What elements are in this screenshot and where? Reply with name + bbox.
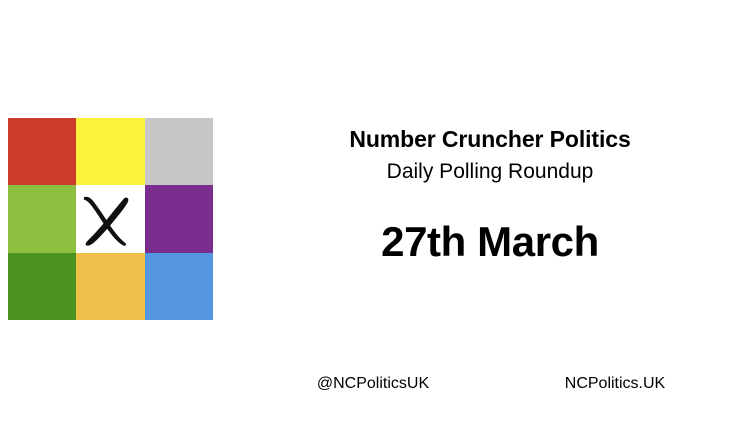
logo-cell-middle-right: [145, 185, 213, 252]
brand-logo: [8, 118, 213, 320]
logo-cell-top-left: [8, 118, 76, 185]
logo-cell-top-right: [145, 118, 213, 185]
page-title: Number Cruncher Politics: [250, 126, 730, 153]
logo-cell-bottom-right: [145, 253, 213, 320]
page-subtitle: Daily Polling Roundup: [250, 158, 730, 185]
logo-cell-bottom-center: [76, 253, 144, 320]
logo-cell-middle-left: [8, 185, 76, 252]
logo-cell-bottom-left: [8, 253, 76, 320]
ballot-cross-icon: [76, 190, 144, 249]
logo-cell-top-center: [76, 118, 144, 185]
social-handle: @NCPoliticsUK: [250, 374, 496, 393]
headline-block: Number Cruncher Politics Daily Polling R…: [250, 126, 730, 265]
report-date: 27th March: [250, 219, 730, 265]
website-url: NCPolitics.UK: [500, 374, 730, 393]
logo-cell-middle-center: [76, 185, 144, 252]
